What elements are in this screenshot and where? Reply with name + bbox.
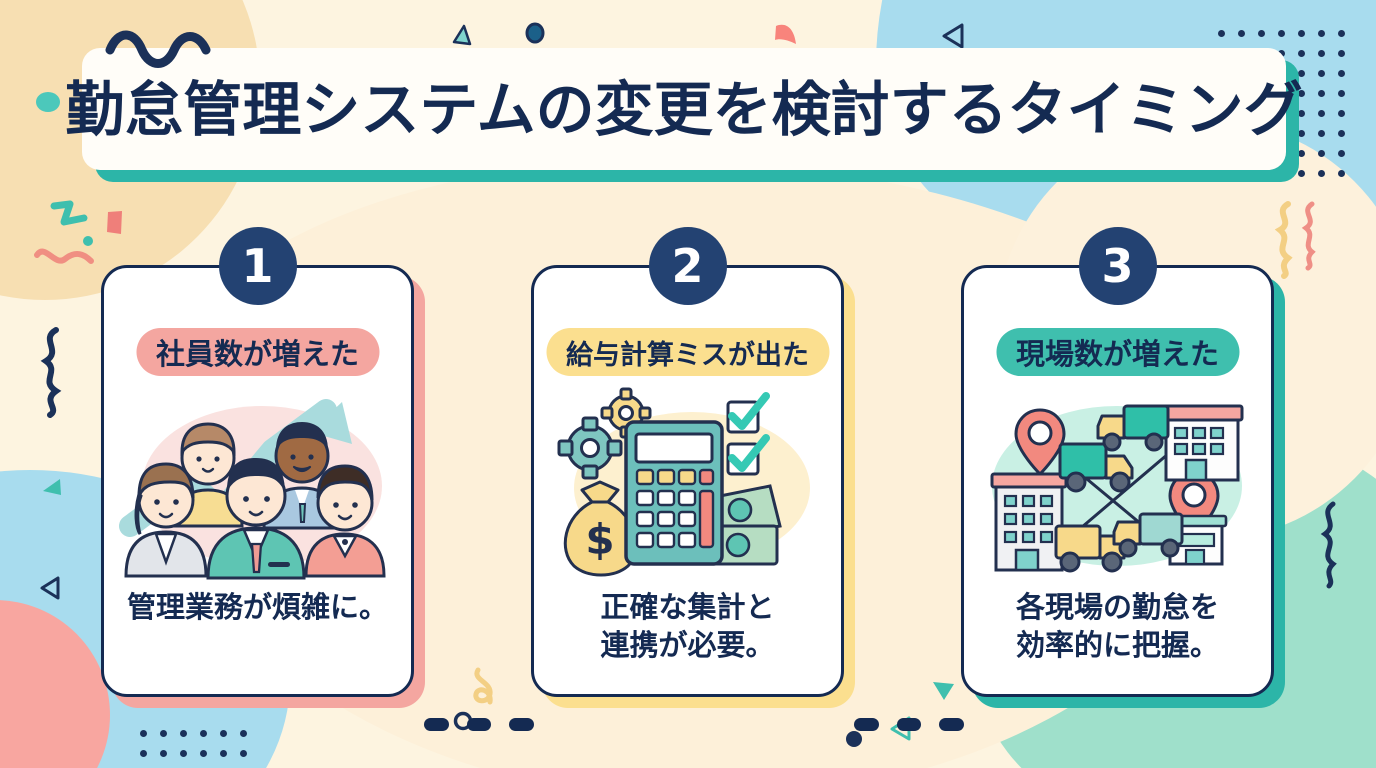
dot-navy-bottom-icon (845, 730, 863, 748)
card-3-badge: 現場数が増えた (996, 328, 1239, 376)
triangle-outline-top-icon (940, 22, 968, 50)
svg-text:$: $ (585, 515, 614, 564)
card-3-illustration (972, 386, 1262, 581)
card-1-badge: 社員数が増えた (136, 328, 379, 376)
card-2[interactable]: 給与計算ミスが出た (531, 265, 844, 697)
card-3-caption-line2: 効率的に把握。 (964, 626, 1271, 664)
card-2-caption-line2: 連携が必要。 (534, 626, 841, 664)
card-3-badge-label: 現場数が増えた (1016, 331, 1219, 373)
card-3-step-number: 3 (1079, 227, 1157, 305)
card-2-caption-line1: 正確な集計と (534, 588, 841, 626)
card-1-body: 社員数が増えた (101, 265, 414, 697)
card-1-caption: 管理業務が煩雑に。 (104, 588, 411, 626)
card-3-step-label: 3 (1101, 243, 1133, 289)
dot-grid-bottom-left (140, 730, 247, 768)
card-2-badge: 給与計算ミスが出た (546, 328, 829, 376)
infographic-canvas: 勤怠管理システムの変更を検討するタイミング 社員数が増えた (0, 0, 1376, 768)
page-title: 勤怠管理システムの変更を検討するタイミング (65, 80, 1302, 139)
office-building-right-icon (1162, 406, 1242, 480)
calculator-icon (626, 422, 722, 564)
square-pink-icon (106, 210, 124, 236)
card-1-badge-label: 社員数が増えた (156, 331, 359, 373)
card-2-step-number: 2 (649, 227, 727, 305)
dot-teal-left-icon (35, 90, 61, 114)
card-3-body: 現場数が増えた (961, 265, 1274, 697)
card-2-badge-label: 給与計算ミスが出た (566, 333, 809, 372)
card-2-body: 給与計算ミスが出た (531, 265, 844, 697)
zigzag-left-icon (50, 200, 92, 234)
card-2-step-label: 2 (671, 243, 703, 289)
card-1-step-label: 1 (241, 243, 273, 289)
card-1[interactable]: 社員数が増えた (101, 265, 414, 697)
connector-2-3 (854, 718, 964, 731)
cards-row: 社員数が増えた (0, 245, 1376, 715)
card-2-illustration: $ (542, 386, 832, 581)
card-3-caption: 各現場の勤怠を 効率的に把握。 (964, 588, 1271, 665)
card-1-step-number: 1 (219, 227, 297, 305)
title-squiggle-icon (104, 28, 216, 72)
triangle-teal-top-icon (452, 24, 474, 46)
card-3[interactable]: 現場数が増えた (961, 265, 1274, 697)
card-3-caption-line1: 各現場の勤怠を (964, 588, 1271, 626)
card-1-illustration (112, 386, 402, 581)
dot-navy-top-icon (525, 22, 545, 44)
card-2-caption: 正確な集計と 連携が必要。 (534, 588, 841, 665)
card-1-caption-line1: 管理業務が煩雑に。 (104, 588, 411, 626)
title-card: 勤怠管理システムの変更を検討するタイミング (82, 48, 1286, 170)
pink-flag-top-icon (772, 20, 800, 50)
connector-1-2 (424, 718, 534, 731)
